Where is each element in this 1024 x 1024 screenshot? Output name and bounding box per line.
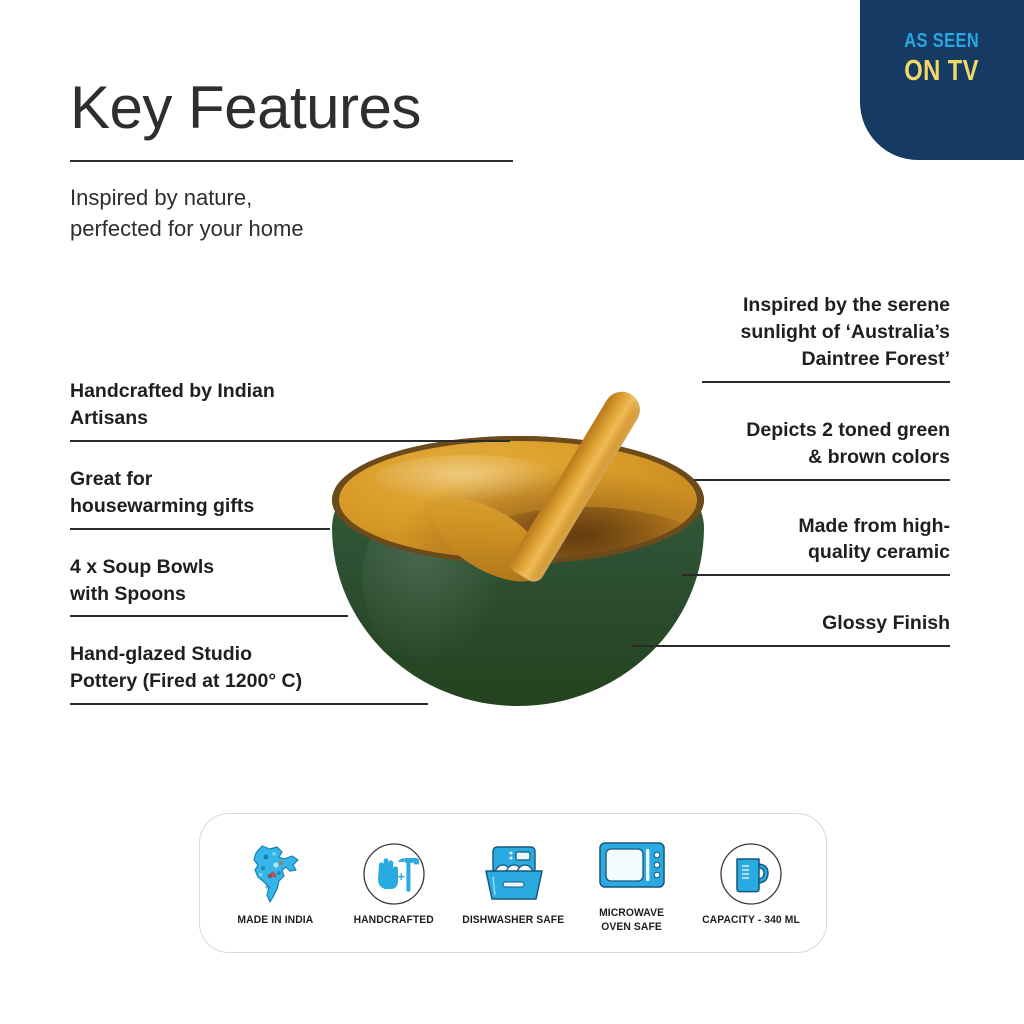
badge-caption: MADE IN INDIA (237, 914, 313, 928)
feature-item: Handcrafted by Indian Artisans (70, 378, 530, 442)
feature-text: 4 x Soup Bowls with Spoons (70, 554, 530, 608)
feature-divider (70, 703, 428, 705)
feature-divider (694, 479, 950, 481)
badge-caption: HANDCRAFTED (354, 914, 434, 928)
feature-line: housewarming gifts (70, 493, 530, 520)
feature-divider (70, 440, 510, 442)
feature-text: Inspired by the serene sunlight of ‘Aust… (480, 292, 950, 373)
feature-line: with Spoons (70, 581, 530, 608)
badge-dishwasher-safe: DISHWASHER SAFE (454, 838, 572, 928)
microwave-icon (595, 831, 669, 903)
badge-made-in-india: MADE IN INDIA (216, 838, 334, 928)
feature-line: Pottery (Fired at 1200° C) (70, 668, 530, 695)
feature-text: Great for housewarming gifts (70, 466, 530, 520)
feature-item: Glossy Finish (480, 610, 950, 647)
hand-hammer-icon: + (361, 838, 427, 910)
badge-caption: CAPACITY - 340 ML (702, 914, 800, 928)
badge-microwave-oven-safe: MICROWAVE OVEN SAFE (573, 831, 691, 935)
as-seen-on-tv-line2: ON TV (905, 55, 980, 88)
feature-divider (632, 645, 950, 647)
feature-item: Great for housewarming gifts (70, 466, 530, 530)
badge-handcrafted: + HANDCRAFTED (335, 838, 453, 928)
feature-list-right: Inspired by the serene sunlight of ‘Aust… (480, 292, 950, 647)
feature-item: Inspired by the serene sunlight of ‘Aust… (480, 292, 950, 383)
feature-item: Depicts 2 toned green & brown colors (480, 417, 950, 481)
feature-line: 4 x Soup Bowls (70, 554, 530, 581)
feature-divider (702, 381, 950, 383)
page-title: Key Features (70, 78, 520, 138)
feature-line: Depicts 2 toned green (480, 417, 950, 444)
feature-line: Handcrafted by Indian (70, 378, 530, 405)
feature-line: Great for (70, 466, 530, 493)
badge-caption-line: MICROWAVE (599, 907, 664, 921)
as-seen-on-tv-line1: AS SEEN (905, 30, 980, 52)
title-divider (70, 160, 513, 162)
feature-line: & brown colors (480, 444, 950, 471)
feature-item: Made from high- quality ceramic (480, 513, 950, 577)
badge-caption: MICROWAVE OVEN SAFE (599, 907, 664, 935)
svg-text:+: + (398, 869, 406, 884)
subtitle-line-2: perfected for your home (70, 213, 520, 244)
feature-text: Glossy Finish (480, 610, 950, 637)
feature-item: 4 x Soup Bowls with Spoons (70, 554, 530, 618)
feature-line: Inspired by the serene (480, 292, 950, 319)
feature-line: Hand-glazed Studio (70, 641, 530, 668)
feature-line: Made from high- (480, 513, 950, 540)
badge-caption: DISHWASHER SAFE (462, 914, 564, 928)
feature-line: Daintree Forest’ (480, 346, 950, 373)
page-header: Key Features Inspired by nature, perfect… (70, 78, 520, 244)
measuring-jug-icon (718, 838, 784, 910)
feature-divider (682, 574, 950, 576)
feature-text: Handcrafted by Indian Artisans (70, 378, 530, 432)
page-subtitle: Inspired by nature, perfected for your h… (70, 182, 520, 244)
feature-divider (70, 528, 330, 530)
feature-item: Hand-glazed Studio Pottery (Fired at 120… (70, 641, 530, 705)
as-seen-on-tv-badge: AS SEEN ON TV (860, 0, 1024, 160)
subtitle-line-1: Inspired by nature, (70, 182, 520, 213)
feature-line: Artisans (70, 405, 530, 432)
badge-caption-line: OVEN SAFE (599, 921, 664, 935)
feature-list-left: Handcrafted by Indian Artisans Great for… (70, 378, 530, 705)
feature-text: Depicts 2 toned green & brown colors (480, 417, 950, 471)
feature-line: quality ceramic (480, 539, 950, 566)
feature-text: Hand-glazed Studio Pottery (Fired at 120… (70, 641, 530, 695)
feature-line: sunlight of ‘Australia’s (480, 319, 950, 346)
badge-capacity: CAPACITY - 340 ML (692, 838, 810, 928)
dishwasher-icon (476, 838, 550, 910)
india-map-icon (246, 838, 304, 910)
product-attribute-strip: MADE IN INDIA + HANDCRAFTED (199, 813, 827, 953)
feature-text: Made from high- quality ceramic (480, 513, 950, 567)
feature-line: Glossy Finish (480, 610, 950, 637)
feature-divider (70, 615, 348, 617)
